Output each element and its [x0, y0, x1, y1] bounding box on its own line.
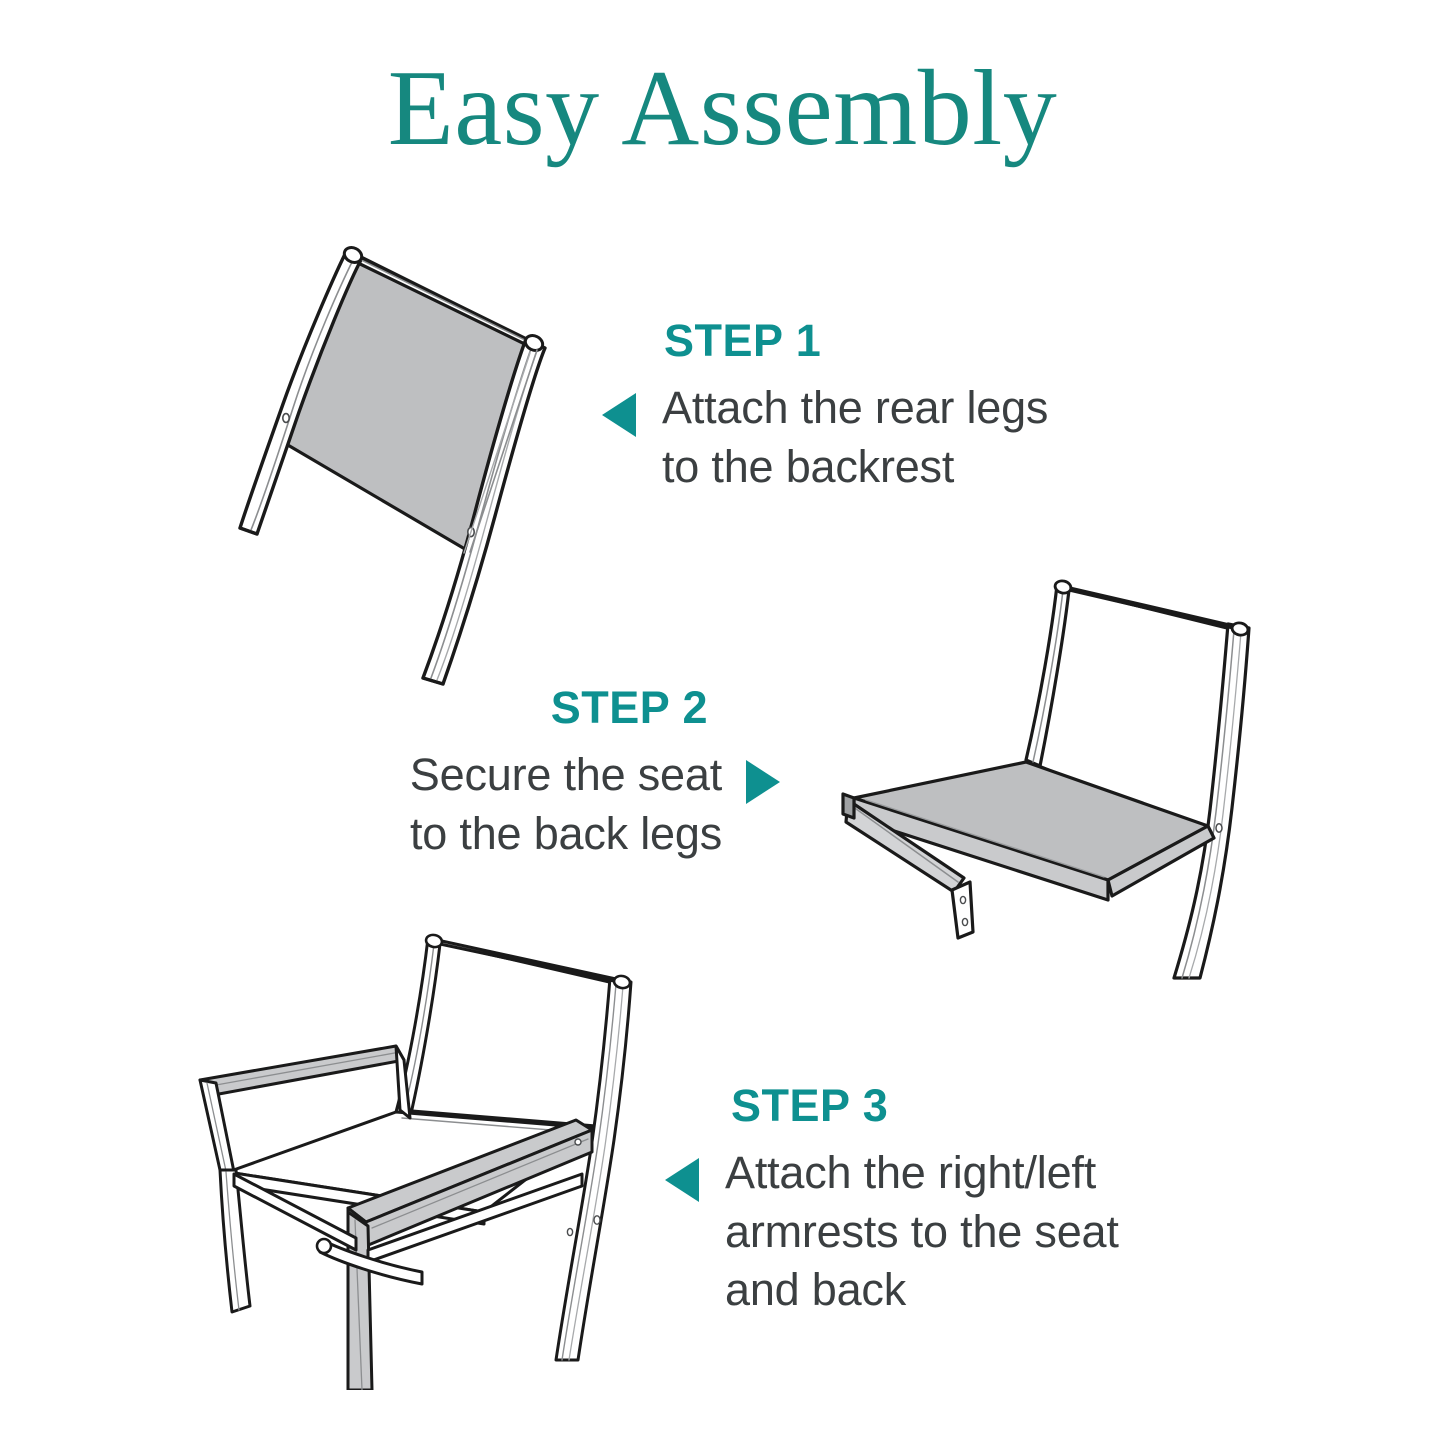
illustration-step-1-backrest-with-rear-legs — [185, 222, 605, 712]
illustration-step-2-seat-attached-to-back-legs — [818, 560, 1268, 980]
step-2-label: STEP 2 — [320, 685, 708, 730]
step-3-label: STEP 3 — [731, 1083, 1231, 1128]
step-2-text-block: STEP 2 Secure the seat to the back legs — [320, 685, 780, 863]
triangle-left-icon — [665, 1158, 699, 1202]
step-3-body-line-2: armrests to the seat — [725, 1203, 1119, 1262]
step-2-row: Secure the seat to the back legs — [320, 746, 780, 863]
step-1-body-line-2: to the backrest — [662, 438, 1048, 497]
illustration-step-3-chair-with-armrests — [172, 920, 672, 1390]
step-2-body-line-2: to the back legs — [410, 805, 722, 864]
triangle-right-icon — [746, 760, 780, 804]
step-3-body-line-3: and back — [725, 1261, 1119, 1320]
step-2-body: Secure the seat to the back legs — [410, 746, 722, 863]
step-3-text-block: STEP 3 Attach the right/left armrests to… — [731, 1083, 1231, 1320]
step-1-label: STEP 1 — [664, 318, 1184, 363]
page-title: Easy Assembly — [0, 52, 1445, 165]
step-3-body: Attach the right/left armrests to the se… — [725, 1144, 1119, 1320]
step-1-row: Attach the rear legs to the backrest — [664, 379, 1184, 496]
step-3-body-line-1: Attach the right/left — [725, 1144, 1119, 1203]
step-1-body: Attach the rear legs to the backrest — [662, 379, 1048, 496]
triangle-left-icon — [602, 393, 636, 437]
step-1-text-block: STEP 1 Attach the rear legs to the backr… — [664, 318, 1184, 496]
step-1-body-line-1: Attach the rear legs — [662, 379, 1048, 438]
step-2-body-line-1: Secure the seat — [410, 746, 722, 805]
step-3-row: Attach the right/left armrests to the se… — [731, 1144, 1231, 1320]
infographic-page: Easy Assembly — [0, 0, 1445, 1445]
